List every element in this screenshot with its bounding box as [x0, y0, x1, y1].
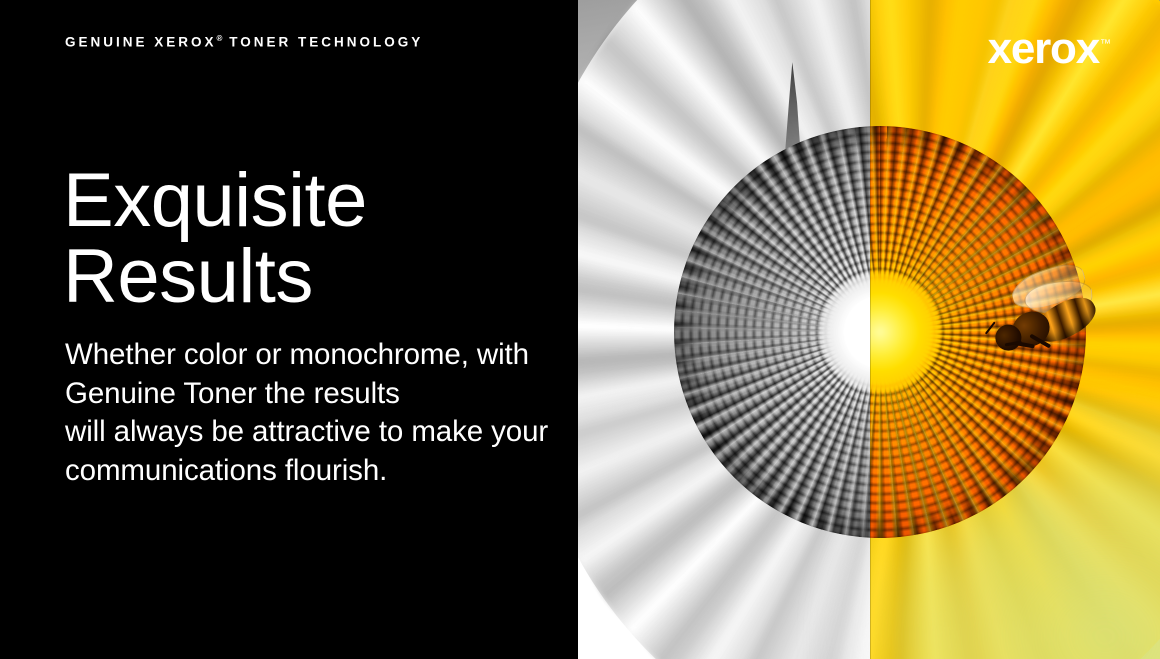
sunflower-photograph: [578, 0, 1160, 659]
eyebrow-text: GENUINE XEROX: [65, 35, 217, 50]
headline-line-1: Exquisite: [63, 163, 367, 239]
xerox-logo: xerox™: [988, 27, 1111, 71]
eyebrow-text-continued: TONER TECHNOLOGY: [222, 35, 423, 50]
page-title: Exquisite Results: [63, 163, 367, 315]
body-line-2: Genuine Toner the results: [65, 375, 548, 414]
marketing-banner: GENUINE XEROX® TONER TECHNOLOGY Exquisit…: [0, 0, 1160, 659]
body-copy: Whether color or monochrome, with Genuin…: [65, 336, 548, 490]
bee-antenna: [985, 321, 996, 334]
trademark-symbol: ™: [1100, 38, 1111, 50]
text-panel: GENUINE XEROX® TONER TECHNOLOGY Exquisit…: [0, 0, 578, 659]
body-line-1: Whether color or monochrome, with: [65, 336, 548, 375]
monochrome-color-split: [870, 0, 871, 659]
eyebrow-heading: GENUINE XEROX® TONER TECHNOLOGY: [65, 34, 423, 50]
body-line-3: will always be attractive to make your: [65, 413, 548, 452]
body-line-4: communications flourish.: [65, 452, 548, 491]
headline-line-2: Results: [63, 239, 367, 315]
xerox-wordmark: xerox: [988, 24, 1099, 73]
